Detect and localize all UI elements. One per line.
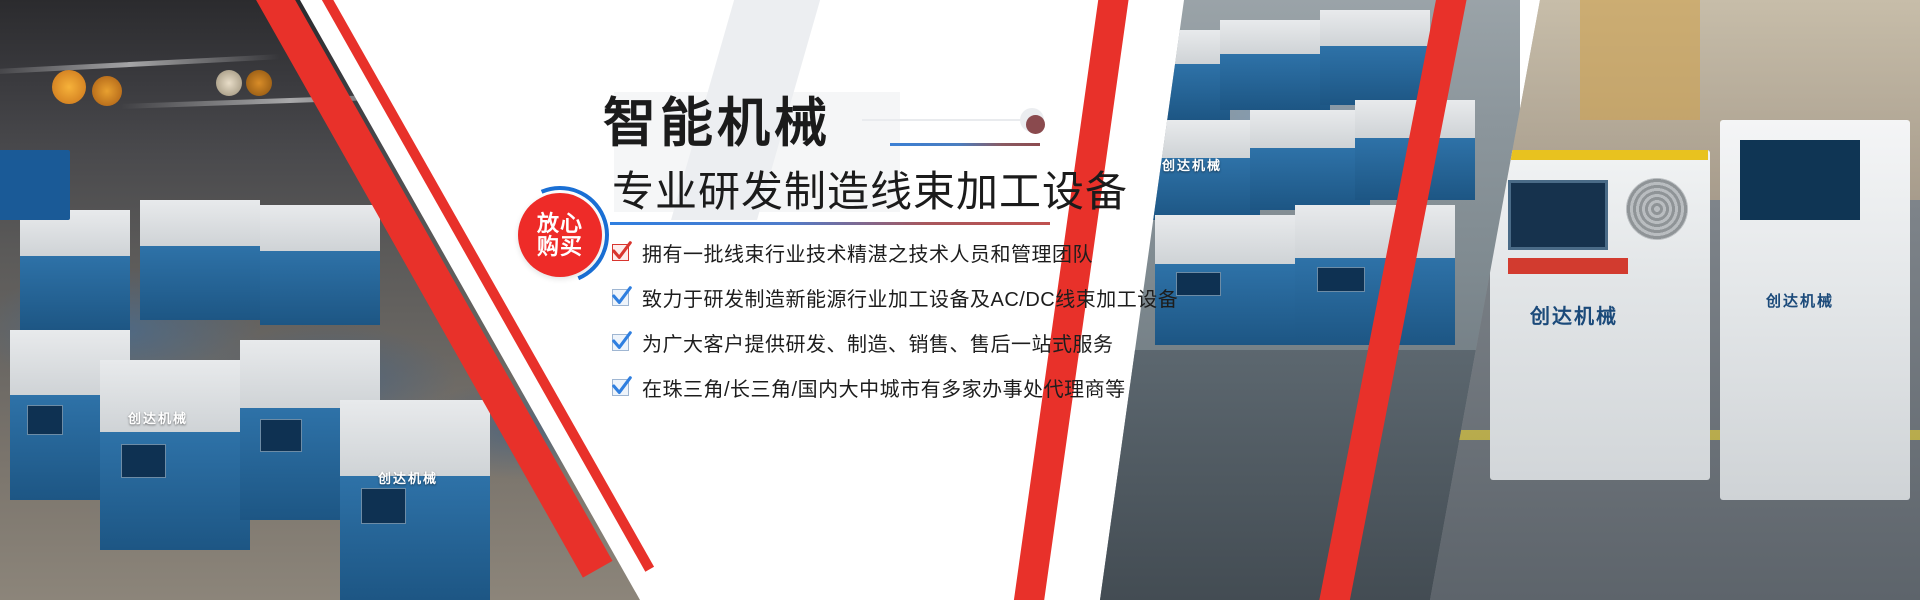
list-item-label: 致力于研发制造新能源行业加工设备及AC/DC线束加工设备 [642, 283, 1178, 312]
list-item: 致力于研发制造新能源行业加工设备及AC/DC线束加工设备 [612, 279, 1178, 315]
checkmark-icon [612, 289, 629, 306]
checkmark-icon [612, 379, 629, 396]
page-subtitle: 专业研发制造线束加工设备 [612, 168, 1128, 216]
headline-accent-rule [890, 143, 1040, 146]
list-item: 为广大客户提供研发、制造、销售、售后一站式服务 [612, 324, 1178, 360]
list-item: 在珠三角/长三角/国内大中城市有多家办事处代理商等 [612, 369, 1178, 405]
status-badge: 放心 购买 [518, 193, 602, 277]
list-item: 拥有一批线束行业技术精湛之技术人员和管理团队 [612, 234, 1178, 270]
decorative-line-grey [862, 119, 1034, 121]
list-item-label: 为广大客户提供研发、制造、销售、售后一站式服务 [642, 328, 1114, 357]
list-item-label: 在珠三角/长三角/国内大中城市有多家办事处代理商等 [642, 373, 1126, 402]
subtitle-underline [610, 222, 1050, 225]
badge-line-2: 购买 [537, 235, 583, 258]
page-title: 智能机械 [603, 97, 831, 150]
promo-banner: 创达机械 创达机械 创达机械 创达机械 创达机械 [0, 0, 1920, 600]
checkmark-icon [612, 244, 629, 261]
feature-list: 拥有一批线束行业技术精湛之技术人员和管理团队 致力于研发制造新能源行业加工设备及… [612, 234, 1178, 414]
list-item-label: 拥有一批线束行业技术精湛之技术人员和管理团队 [642, 238, 1093, 267]
banner-content: 智能机械 专业研发制造线束加工设备 放心 购买 拥有一批线束行业技术精湛之技术人… [0, 0, 1920, 600]
badge-line-1: 放心 [537, 212, 583, 235]
headline-accent-dot [1026, 115, 1045, 134]
checkmark-icon [612, 334, 629, 351]
